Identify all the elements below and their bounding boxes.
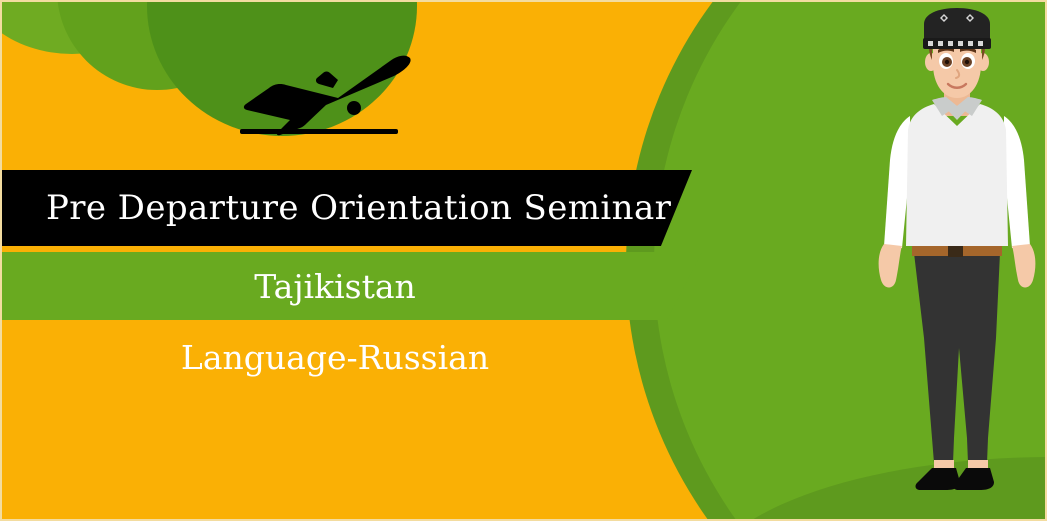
- shoes: [916, 468, 994, 490]
- runway-line: [240, 129, 398, 134]
- language-label: Language-Russian: [181, 338, 489, 377]
- tajik-man-illustration: [862, 8, 1047, 498]
- shirt: [906, 97, 1008, 246]
- country-label: Tajikistan: [254, 267, 416, 306]
- language-band: Language-Russian: [2, 324, 702, 390]
- trousers: [914, 253, 1000, 463]
- tajik-cap-icon: [923, 8, 991, 49]
- country-band: Tajikistan: [2, 252, 702, 320]
- seminar-title-band: Pre Departure Orientation Seminar: [2, 170, 692, 246]
- page-title: Pre Departure Orientation Seminar: [46, 188, 671, 228]
- poster-canvas: Pre Departure Orientation Seminar Tajiki…: [0, 0, 1047, 521]
